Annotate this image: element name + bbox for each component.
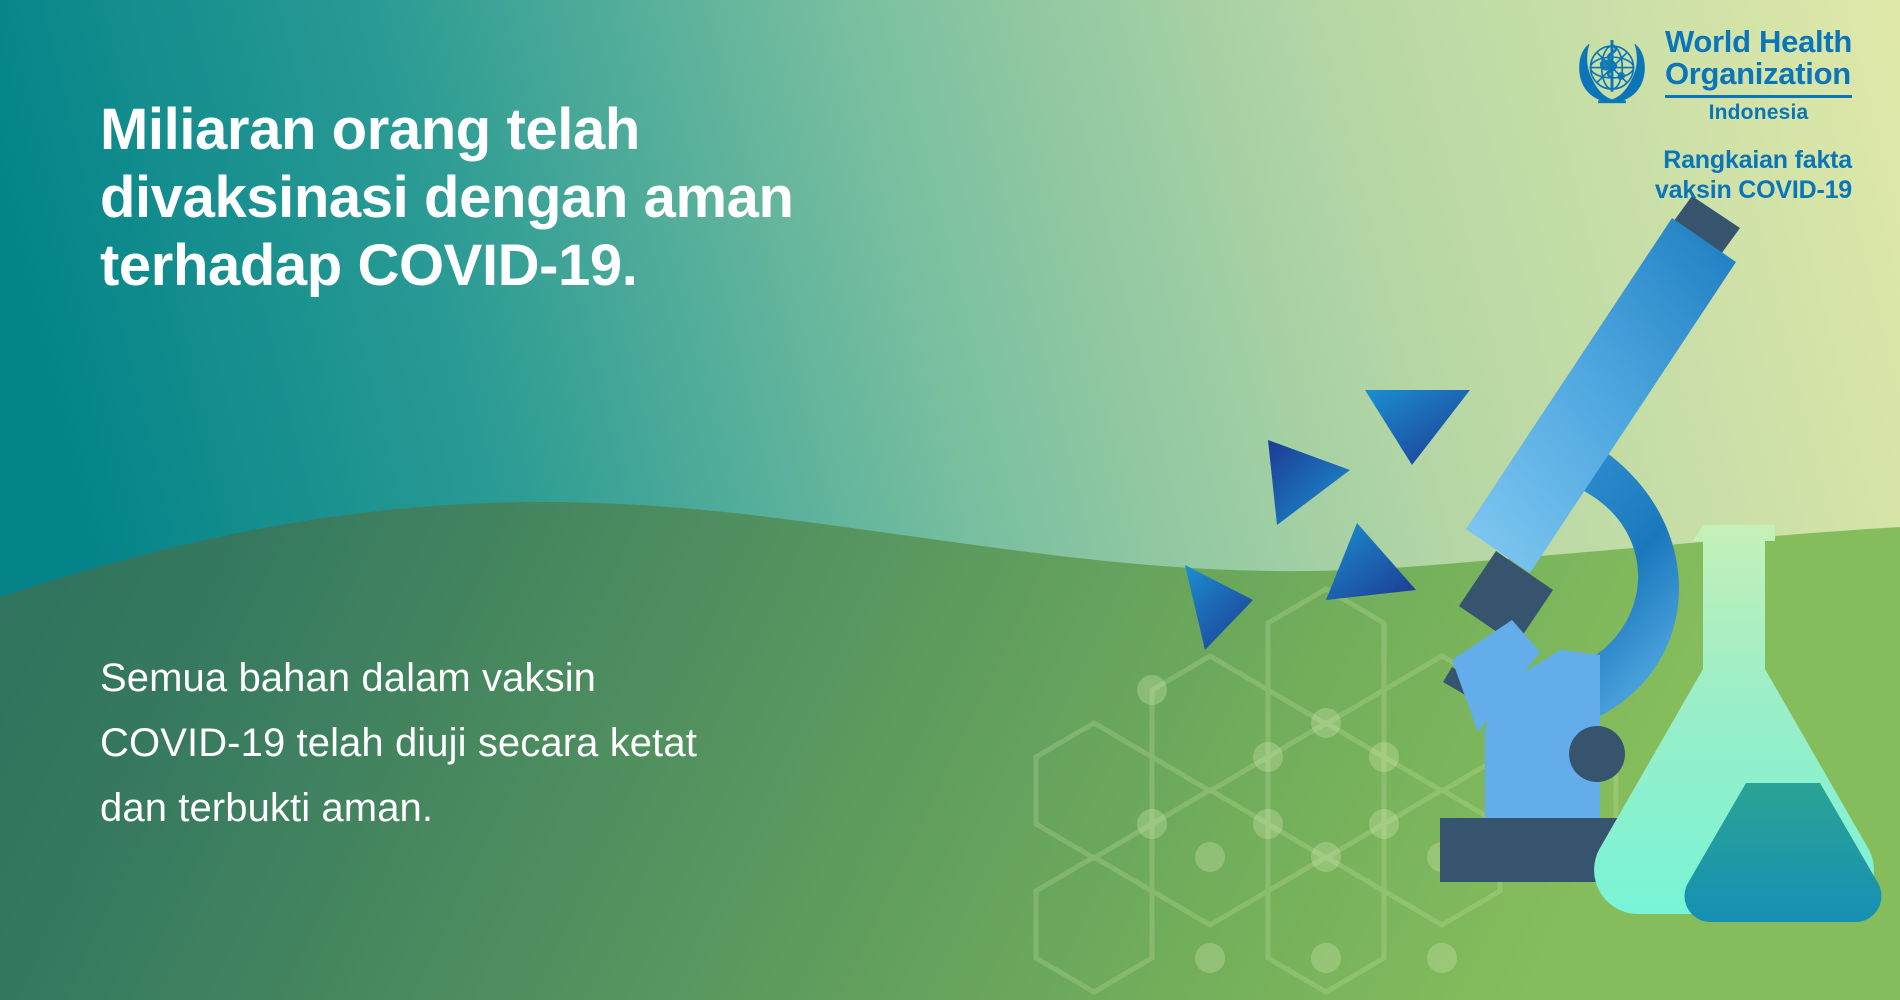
- body-line-3: dan terbukti aman.: [100, 776, 860, 841]
- tagline-line-1: Rangkaian fakta: [1655, 145, 1852, 175]
- who-divider-rule: [1665, 95, 1852, 98]
- tagline-line-2: vaksin COVID-19: [1655, 175, 1852, 205]
- microscope-focus-knob: [1569, 726, 1625, 782]
- headline-line-3: terhadap COVID-19.: [100, 232, 1020, 300]
- who-country-label: Indonesia: [1709, 101, 1809, 125]
- headline-line-2: divaksinasi dengan aman: [100, 164, 1020, 232]
- body-copy: Semua bahan dalam vaksin COVID-19 telah …: [100, 646, 860, 842]
- who-wordmark-line-2: Organization: [1665, 58, 1851, 90]
- body-line-1: Semua bahan dalam vaksin: [100, 646, 860, 711]
- who-emblem-icon: [1569, 28, 1655, 114]
- poster-canvas: Miliaran orang telah divaksinasi dengan …: [0, 0, 1900, 1000]
- who-logo-block: World Health Organization Indonesia Rang…: [1569, 26, 1852, 205]
- who-logo-row: World Health Organization Indonesia: [1569, 26, 1852, 125]
- headline: Miliaran orang telah divaksinasi dengan …: [100, 96, 1020, 300]
- headline-line-1: Miliaran orang telah: [100, 96, 1020, 164]
- who-wordmark-line-1: World Health: [1665, 26, 1852, 58]
- campaign-tagline: Rangkaian fakta vaksin COVID-19: [1655, 145, 1852, 205]
- who-wordmark: World Health Organization Indonesia: [1665, 26, 1852, 125]
- body-line-2: COVID-19 telah diuji secara ketat: [100, 711, 860, 776]
